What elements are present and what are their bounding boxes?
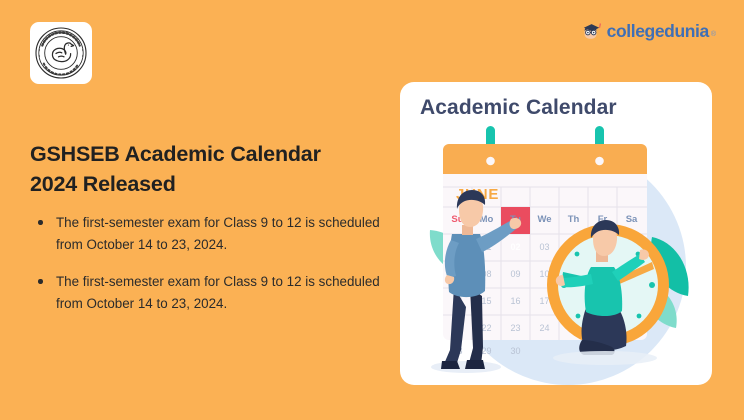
academic-calendar-illustration: JUNE Su Mo Tu We Th Fr Sa 01 02 03 04 [400, 82, 712, 385]
page-title: GSHSEB Academic Calendar 2024 Released [30, 140, 370, 199]
svg-text:30: 30 [510, 346, 520, 356]
illustration-title: Academic Calendar [420, 96, 617, 120]
svg-text:16: 16 [510, 296, 520, 306]
list-item: The first-semester exam for Class 9 to 1… [30, 271, 380, 314]
svg-text:24: 24 [539, 323, 549, 333]
svg-text:03: 03 [539, 242, 549, 252]
weekday-th: Th [568, 214, 580, 225]
highlighted-date-label: 02 [510, 242, 520, 252]
list-item-text: The first-semester exam for Class 9 to 1… [56, 274, 380, 311]
list-item: The first-semester exam for Class 9 to 1… [30, 212, 380, 255]
collegedunia-logo[interactable]: collegedunia ® [580, 21, 716, 43]
svg-text:22: 22 [481, 323, 491, 333]
svg-text:29: 29 [481, 346, 491, 356]
collegedunia-wordmark: collegedunia [607, 23, 709, 41]
illustration-card: JUNE Su Mo Tu We Th Fr Sa 01 02 03 04 [400, 82, 712, 385]
svg-text:17: 17 [539, 296, 549, 306]
svg-text:09: 09 [510, 269, 520, 279]
collegedunia-mascot-icon [580, 21, 602, 43]
collegedunia-trademark: ® [711, 31, 716, 38]
weekday-sa: Sa [626, 214, 638, 225]
bullet-dot-icon [38, 220, 43, 225]
calendar-header [443, 144, 647, 174]
list-item-text: The first-semester exam for Class 9 to 1… [56, 215, 380, 252]
gujarat-board-emblem-icon [34, 26, 88, 80]
highlights-list: The first-semester exam for Class 9 to 1… [30, 212, 380, 315]
weekday-we: We [537, 214, 551, 225]
bullet-dot-icon [38, 279, 43, 284]
svg-text:23: 23 [510, 323, 520, 333]
svg-text:15: 15 [481, 296, 491, 306]
board-logo [30, 22, 92, 84]
